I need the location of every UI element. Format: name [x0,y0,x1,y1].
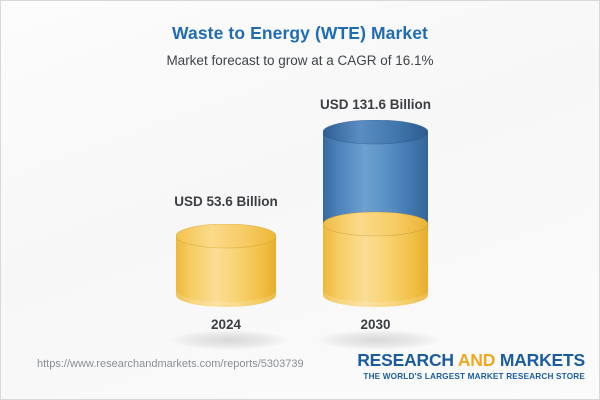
category-label-2030: 2030 [360,317,390,332]
cylinder-2030 [323,120,428,307]
bar-value-label-2024: USD 53.6 Billion [174,194,278,209]
logo-tagline: THE WORLD'S LARGEST MARKET RESEARCH STOR… [357,372,585,381]
logo-wordmark: RESEARCH AND MARKETS [357,350,585,371]
report-url-link[interactable]: https://www.researchandmarkets.com/repor… [37,358,304,370]
cylinder-2024 [176,224,276,307]
bar-value-label-2030: USD 131.6 Billion [320,97,431,112]
cylinder-2024-graphic [176,224,276,307]
logo-word-and: AND [458,350,495,370]
logo-word-markets: MARKETS [500,350,585,370]
bar-group-2030: USD 131.6 Billion [323,1,428,346]
cylinder-2030-graphic [323,120,428,307]
bar-group-2024: USD 53.6 Billion [176,1,276,346]
category-label-2024: 2024 [211,317,241,332]
footer: https://www.researchandmarkets.com/repor… [1,344,600,399]
research-and-markets-logo[interactable]: RESEARCH AND MARKETS THE WORLD'S LARGEST… [357,350,585,381]
infographic-canvas: Waste to Energy (WTE) Market Market fore… [0,0,600,400]
chart-plot-area: USD 53.6 Billion [1,1,600,346]
logo-word-research: RESEARCH [357,350,454,370]
